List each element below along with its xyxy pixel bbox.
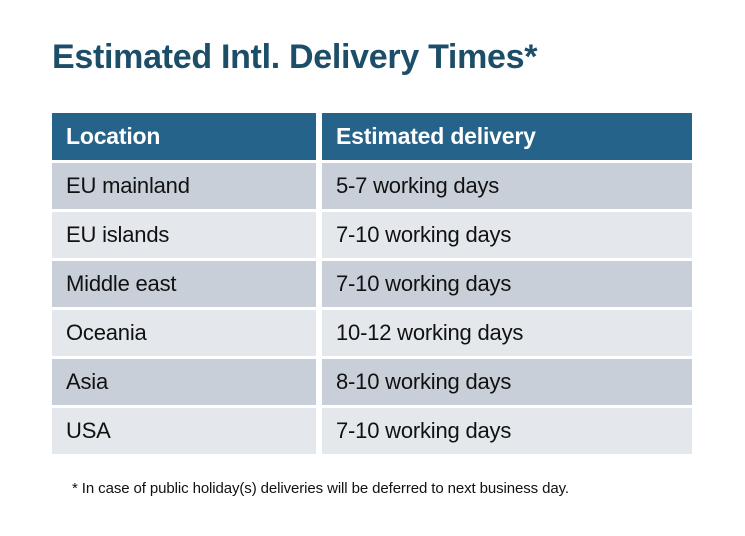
column-header-location: Location [52,113,316,160]
cell-estimated-delivery: 7-10 working days [322,261,692,307]
cell-estimated-delivery: 8-10 working days [322,359,692,405]
delivery-times-page: Estimated Intl. Delivery Times* Location… [0,0,745,536]
cell-location: EU mainland [52,163,316,209]
table-row: EU islands 7-10 working days [52,212,692,258]
cell-location: Asia [52,359,316,405]
table-header-row: Location Estimated delivery [52,113,692,160]
cell-location: Oceania [52,310,316,356]
table-row: USA 7-10 working days [52,408,692,454]
cell-location: Middle east [52,261,316,307]
cell-estimated-delivery: 5-7 working days [322,163,692,209]
table-row: Middle east 7-10 working days [52,261,692,307]
footnote: * In case of public holiday(s) deliverie… [72,479,569,499]
page-title: Estimated Intl. Delivery Times* [52,36,537,78]
table-row: Asia 8-10 working days [52,359,692,405]
delivery-times-table: Location Estimated delivery EU mainland … [52,113,692,454]
cell-location: USA [52,408,316,454]
table-row: EU mainland 5-7 working days [52,163,692,209]
cell-location: EU islands [52,212,316,258]
column-header-estimated-delivery: Estimated delivery [322,113,692,160]
table-row: Oceania 10-12 working days [52,310,692,356]
cell-estimated-delivery: 10-12 working days [322,310,692,356]
cell-estimated-delivery: 7-10 working days [322,408,692,454]
cell-estimated-delivery: 7-10 working days [322,212,692,258]
